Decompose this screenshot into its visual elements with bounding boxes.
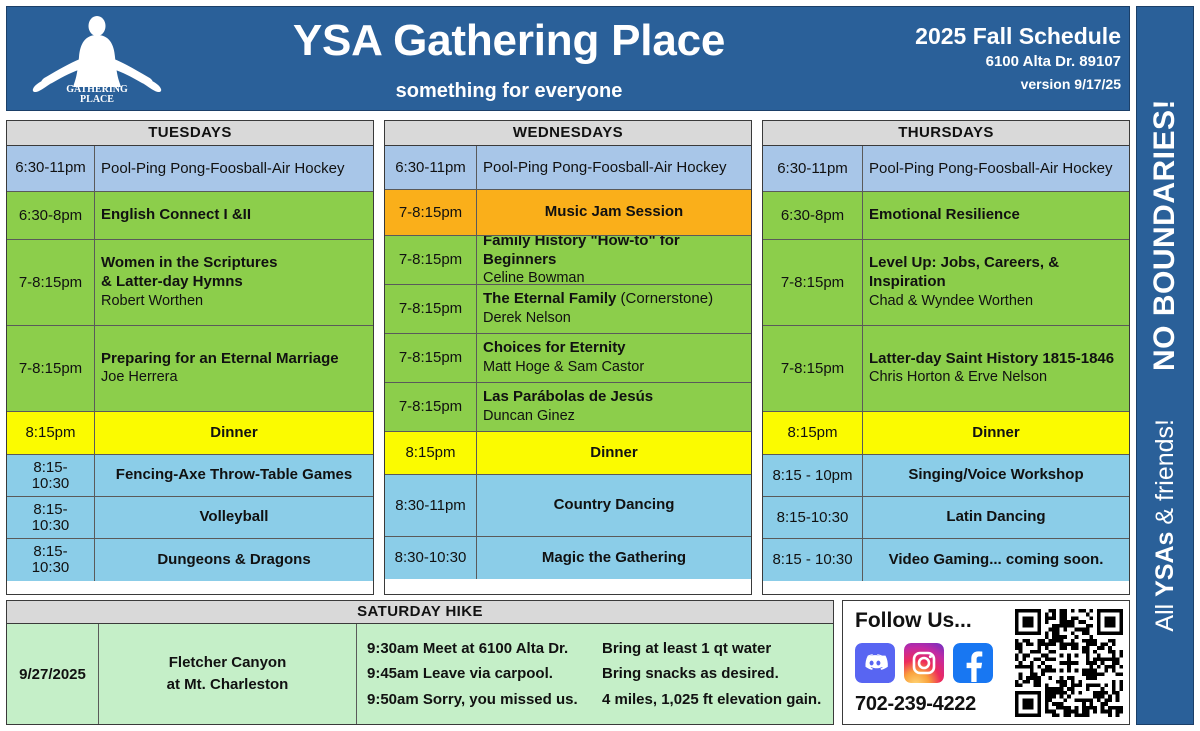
address-label: 6100 Alta Dr. 89107: [986, 51, 1121, 74]
hike-itinerary-time: 9:45am Leave via carpool.: [367, 661, 602, 687]
row-time: 8:15pm: [763, 412, 863, 454]
schedule-row[interactable]: 8:30-11pmCountry Dancing: [385, 475, 751, 537]
schedule-row[interactable]: 7-8:15pmLas Parábolas de JesúsDuncan Gin…: [385, 383, 751, 432]
day-rows: 6:30-11pmPool-Ping Pong-Foosball-Air Hoc…: [763, 146, 1129, 594]
row-time: 7-8:15pm: [7, 326, 95, 411]
facebook-icon[interactable]: [953, 643, 993, 683]
schedule-row[interactable]: 7-8:15pmLevel Up: Jobs, Careers, & Inspi…: [763, 240, 1129, 326]
row-time: 8:15-10:30: [7, 455, 95, 496]
activity-presenter: Chad & Wyndee Worthen: [869, 292, 1123, 311]
row-time: 6:30-11pm: [385, 146, 477, 189]
row-time: 6:30-8pm: [763, 192, 863, 239]
activity-presenter: Joe Herrera: [101, 368, 367, 387]
row-content: Dinner: [863, 412, 1129, 454]
row-time: 8:15pm: [385, 432, 477, 474]
row-time: 7-8:15pm: [7, 240, 95, 325]
schedule-row[interactable]: 8:15-10:30Dungeons & Dragons: [7, 539, 373, 581]
activity-title: Singing/Voice Workshop: [869, 466, 1123, 485]
row-time: 7-8:15pm: [385, 236, 477, 284]
schedule-row[interactable]: 6:30-8pmEnglish Connect I &II: [7, 192, 373, 240]
activity-title: Pool-Ping Pong-Foosball-Air Hockey: [869, 160, 1123, 178]
row-content: Level Up: Jobs, Careers, & InspirationCh…: [863, 240, 1129, 325]
row-content: Las Parábolas de JesúsDuncan Ginez: [477, 383, 751, 431]
hike-location-line2: at Mt. Charleston: [167, 674, 289, 696]
row-time: 8:15 - 10pm: [763, 455, 863, 496]
schedule-row[interactable]: 6:30-8pmEmotional Resilience: [763, 192, 1129, 240]
schedule-row[interactable]: 7-8:15pmFamily History "How-to" for Begi…: [385, 236, 751, 285]
discord-icon[interactable]: [855, 643, 895, 683]
row-content: Magic the Gathering: [477, 537, 751, 579]
sidebar-bottom-bold: YSAs: [1151, 532, 1179, 597]
activity-title: Dungeons & Dragons: [101, 551, 367, 570]
schedule-row[interactable]: 8:15pmDinner: [763, 412, 1129, 455]
row-content: Emotional Resilience: [863, 192, 1129, 239]
follow-us-panel: Follow Us...: [842, 600, 1130, 725]
activity-title: The Eternal Family (Cornerstone): [483, 290, 745, 309]
schedule-row[interactable]: 7-8:15pmPreparing for an Eternal Marriag…: [7, 326, 373, 412]
activity-title: Preparing for an Eternal Marriage: [101, 350, 367, 369]
activity-title: Pool-Ping Pong-Foosball-Air Hockey: [483, 159, 745, 177]
schedule-row[interactable]: 6:30-11pmPool-Ping Pong-Foosball-Air Hoc…: [763, 146, 1129, 192]
row-time: 7-8:15pm: [763, 326, 863, 411]
day-header: TUESDAYS: [7, 121, 373, 146]
row-content: Country Dancing: [477, 475, 751, 536]
day-column-wednesdays: WEDNESDAYS6:30-11pmPool-Ping Pong-Foosba…: [384, 120, 752, 595]
schedule-row[interactable]: 6:30-11pmPool-Ping Pong-Foosball-Air Hoc…: [7, 146, 373, 192]
activity-title: Latin Dancing: [869, 508, 1123, 527]
row-content: Dinner: [95, 412, 373, 454]
hike-date: 9/27/2025: [7, 624, 99, 724]
saturday-hike-heading: SATURDAY HIKE: [7, 601, 833, 624]
row-content: Choices for EternityMatt Hoge & Sam Cast…: [477, 334, 751, 382]
activity-title: Family History "How-to" for Beginners: [483, 236, 745, 269]
activity-presenter: Derek Nelson: [483, 309, 745, 328]
schedule-row[interactable]: 8:15-10:30Volleyball: [7, 497, 373, 539]
row-content: Pool-Ping Pong-Foosball-Air Hockey: [863, 146, 1129, 191]
follow-us-title: Follow Us...: [855, 609, 1015, 633]
saturday-hike-panel: SATURDAY HIKE 9/27/2025 Fletcher Canyon …: [6, 600, 834, 725]
hike-itinerary-row: 9:45am Leave via carpool.Bring snacks as…: [367, 661, 833, 687]
schedule-row[interactable]: 8:15-10:30Fencing-Axe Throw-Table Games: [7, 455, 373, 497]
activity-presenter: Duncan Ginez: [483, 407, 745, 426]
row-time: 8:15-10:30: [7, 539, 95, 581]
schedule-row[interactable]: 7-8:15pmChoices for EternityMatt Hoge & …: [385, 334, 751, 383]
sidebar-no-boundaries: NO BOUNDARIES!: [1148, 99, 1182, 371]
hike-itinerary-note: 4 miles, 1,025 ft elevation gain.: [602, 687, 833, 713]
sidebar-bottom-prefix: All: [1151, 597, 1179, 632]
schedule-row[interactable]: 7-8:15pmThe Eternal Family (Cornerstone)…: [385, 285, 751, 334]
social-links: [855, 643, 1015, 683]
schedule-row[interactable]: 8:15pmDinner: [385, 432, 751, 475]
row-content: English Connect I &II: [95, 192, 373, 239]
day-column-tuesdays: TUESDAYS6:30-11pmPool-Ping Pong-Foosball…: [6, 120, 374, 595]
saturday-hike-body: 9/27/2025 Fletcher Canyon at Mt. Charles…: [7, 624, 833, 724]
qr-code-icon[interactable]: [1015, 609, 1123, 717]
hike-location-line1: Fletcher Canyon: [169, 652, 287, 674]
activity-title: Women in the Scriptures& Latter-day Hymn…: [101, 254, 367, 292]
row-content: Pool-Ping Pong-Foosball-Air Hockey: [95, 146, 373, 191]
activity-title: Volleyball: [101, 508, 367, 527]
schedule-row[interactable]: 6:30-11pmPool-Ping Pong-Foosball-Air Hoc…: [385, 146, 751, 190]
row-time: 7-8:15pm: [385, 190, 477, 235]
schedule-row[interactable]: 7-8:15pmMusic Jam Session: [385, 190, 751, 236]
activity-presenter: Celine Bowman: [483, 269, 745, 284]
header-meta: 2025 Fall Schedule 6100 Alta Dr. 89107 v…: [871, 7, 1129, 110]
schedule-row[interactable]: 7-8:15pmLatter-day Saint History 1815-18…: [763, 326, 1129, 412]
row-time: 7-8:15pm: [763, 240, 863, 325]
day-column-thursdays: THURSDAYS6:30-11pmPool-Ping Pong-Foosbal…: [762, 120, 1130, 595]
sidebar-banner: NO BOUNDARIES! All YSAs & friends!: [1136, 6, 1194, 725]
row-content: Fencing-Axe Throw-Table Games: [95, 455, 373, 496]
activity-title: Las Parábolas de Jesús: [483, 388, 745, 407]
activity-title: Dinner: [869, 424, 1123, 443]
follow-us-left: Follow Us...: [849, 605, 1015, 720]
activity-title: Video Gaming... coming soon.: [869, 551, 1123, 570]
row-content: Video Gaming... coming soon.: [863, 539, 1129, 581]
activity-presenter: Robert Worthen: [101, 292, 367, 311]
svg-text:YSA: YSA: [89, 74, 105, 83]
activity-title: Pool-Ping Pong-Foosball-Air Hockey: [101, 160, 367, 178]
row-time: 6:30-11pm: [7, 146, 95, 191]
hike-location: Fletcher Canyon at Mt. Charleston: [99, 624, 357, 724]
sidebar-ysa-friends: All YSAs & friends!: [1151, 419, 1180, 632]
page-title: YSA Gathering Place: [293, 18, 725, 64]
row-content: Dinner: [477, 432, 751, 474]
activity-title: Choices for Eternity: [483, 339, 745, 358]
hike-itinerary: 9:30am Meet at 6100 Alta Dr.Bring at lea…: [357, 624, 833, 724]
schedule-row[interactable]: 7-8:15pmWomen in the Scriptures& Latter-…: [7, 240, 373, 326]
schedule-row[interactable]: 8:15 - 10pmSinging/Voice Workshop: [763, 455, 1129, 497]
sidebar-bottom-suffix: & friends!: [1151, 419, 1179, 532]
row-content: Dungeons & Dragons: [95, 539, 373, 581]
season-label: 2025 Fall Schedule: [915, 22, 1121, 51]
bottom-section: SATURDAY HIKE 9/27/2025 Fletcher Canyon …: [6, 600, 1130, 725]
activity-title: Music Jam Session: [483, 203, 745, 222]
row-time: 8:15-10:30: [7, 497, 95, 538]
version-label: version 9/17/25: [1021, 74, 1121, 95]
activity-title: Country Dancing: [483, 496, 745, 515]
hike-itinerary-row: 9:30am Meet at 6100 Alta Dr.Bring at lea…: [367, 636, 833, 662]
row-time: 8:30-10:30: [385, 537, 477, 579]
row-content: Pool-Ping Pong-Foosball-Air Hockey: [477, 146, 751, 189]
hike-itinerary-note: Bring snacks as desired.: [602, 661, 833, 687]
hike-itinerary-time: 9:30am Meet at 6100 Alta Dr.: [367, 636, 602, 662]
row-time: 6:30-8pm: [7, 192, 95, 239]
activity-title: Emotional Resilience: [869, 206, 1123, 225]
phone-number[interactable]: 702-239-4222: [855, 693, 1015, 716]
activity-title: Level Up: Jobs, Careers, & Inspiration: [869, 254, 1123, 292]
row-content: Women in the Scriptures& Latter-day Hymn…: [95, 240, 373, 325]
row-content: Singing/Voice Workshop: [863, 455, 1129, 496]
activity-title: Latter-day Saint History 1815-1846: [869, 350, 1123, 369]
page-subtitle: something for everyone: [396, 80, 623, 103]
title-block: YSA Gathering Place something for everyo…: [187, 7, 871, 110]
row-content: Family History "How-to" for BeginnersCel…: [477, 236, 751, 284]
row-content: Music Jam Session: [477, 190, 751, 235]
ysa-statue-logo-icon: YSA GATHERING PLACE: [22, 13, 172, 105]
schedule-row[interactable]: 8:15pmDinner: [7, 412, 373, 455]
day-rows: 6:30-11pmPool-Ping Pong-Foosball-Air Hoc…: [385, 146, 751, 594]
schedule-columns: TUESDAYS6:30-11pmPool-Ping Pong-Foosball…: [6, 120, 1130, 595]
hike-itinerary-row: 9:50am Sorry, you missed us.4 miles, 1,0…: [367, 687, 833, 713]
row-time: 7-8:15pm: [385, 285, 477, 333]
activity-title: English Connect I &II: [101, 206, 367, 225]
row-content: Latin Dancing: [863, 497, 1129, 538]
row-time: 8:30-11pm: [385, 475, 477, 536]
hike-itinerary-time: 9:50am Sorry, you missed us.: [367, 687, 602, 713]
page-header: YSA GATHERING PLACE YSA Gathering Place …: [6, 6, 1130, 111]
schedule-row[interactable]: 8:30-10:30Magic the Gathering: [385, 537, 751, 579]
row-content: Latter-day Saint History 1815-1846Chris …: [863, 326, 1129, 411]
row-content: Preparing for an Eternal MarriageJoe Her…: [95, 326, 373, 411]
svg-text:PLACE: PLACE: [80, 94, 114, 105]
schedule-row[interactable]: 8:15 - 10:30Video Gaming... coming soon.: [763, 539, 1129, 581]
day-header: WEDNESDAYS: [385, 121, 751, 146]
day-header: THURSDAYS: [763, 121, 1129, 146]
logo: YSA GATHERING PLACE: [7, 7, 187, 110]
row-content: The Eternal Family (Cornerstone)Derek Ne…: [477, 285, 751, 333]
activity-title: Fencing-Axe Throw-Table Games: [101, 466, 367, 485]
row-time: 6:30-11pm: [763, 146, 863, 191]
schedule-row[interactable]: 8:15-10:30Latin Dancing: [763, 497, 1129, 539]
day-rows: 6:30-11pmPool-Ping Pong-Foosball-Air Hoc…: [7, 146, 373, 594]
row-time: 8:15 - 10:30: [763, 539, 863, 581]
activity-title: Magic the Gathering: [483, 549, 745, 568]
schedule-flyer: YSA GATHERING PLACE YSA Gathering Place …: [0, 0, 1200, 731]
activity-presenter: Matt Hoge & Sam Castor: [483, 358, 745, 377]
row-time: 8:15-10:30: [763, 497, 863, 538]
row-content: Volleyball: [95, 497, 373, 538]
row-time: 7-8:15pm: [385, 383, 477, 431]
activity-presenter: Chris Horton & Erve Nelson: [869, 368, 1123, 387]
instagram-icon[interactable]: [904, 643, 944, 683]
hike-itinerary-note: Bring at least 1 qt water: [602, 636, 833, 662]
row-time: 8:15pm: [7, 412, 95, 454]
activity-title: Dinner: [483, 444, 745, 463]
activity-title: Dinner: [101, 424, 367, 443]
row-time: 7-8:15pm: [385, 334, 477, 382]
